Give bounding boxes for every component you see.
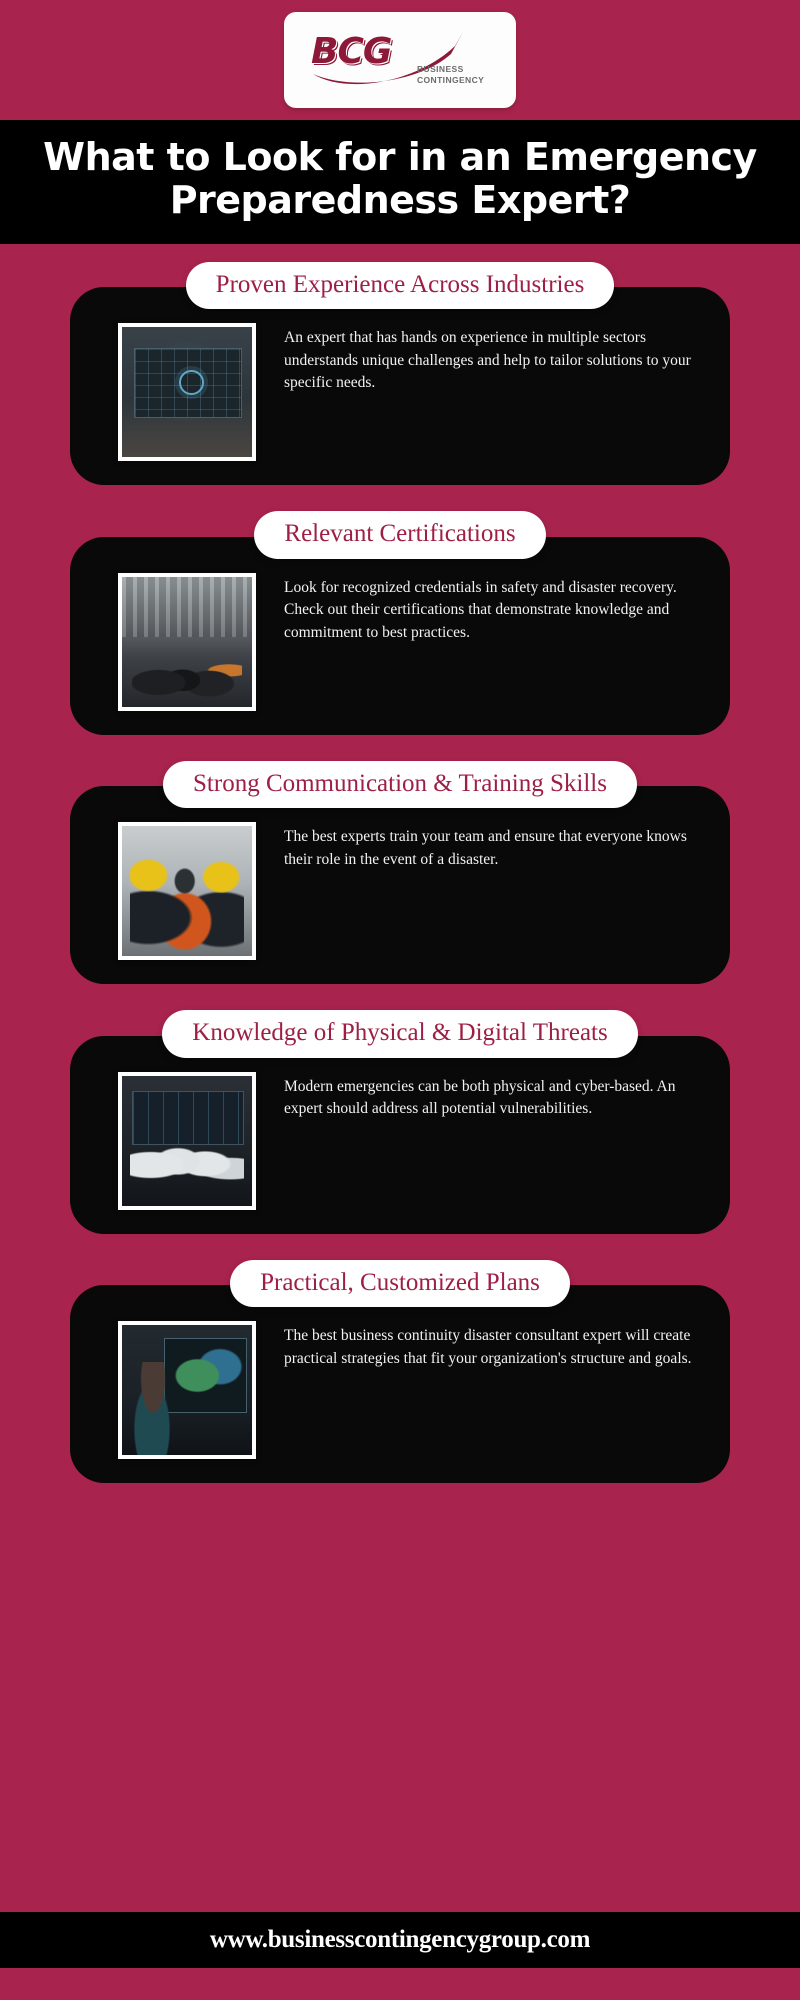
card-thumbnail-frame xyxy=(118,822,256,960)
card-heading: Practical, Customized Plans xyxy=(260,1269,540,1297)
card-heading-pill: Strong Communication & Training Skills xyxy=(163,761,637,809)
card-thumbnail-frame xyxy=(118,323,256,461)
infographic-page: BCG BUSINESS CONTINGENCY What to Look fo… xyxy=(0,0,800,2000)
card-body: The best experts train your team and ens… xyxy=(70,786,730,984)
card-thumbnail-frame xyxy=(118,1072,256,1210)
card-heading-pill: Proven Experience Across Industries xyxy=(186,262,615,310)
header-band: BCG BUSINESS CONTINGENCY xyxy=(0,0,800,120)
card-heading-pill: Knowledge of Physical & Digital Threats xyxy=(162,1010,637,1058)
cards-container: Proven Experience Across Industries An e… xyxy=(0,244,800,1898)
card-communication-training: Strong Communication & Training Skills T… xyxy=(70,761,730,985)
card-body: An expert that has hands on experience i… xyxy=(70,287,730,485)
card-body: Look for recognized credentials in safet… xyxy=(70,537,730,735)
card-relevant-certifications: Relevant Certifications Look for recogni… xyxy=(70,511,730,735)
card-description: Look for recognized credentials in safet… xyxy=(284,573,696,644)
card-description: An expert that has hands on experience i… xyxy=(284,323,696,394)
card-physical-digital-threats: Knowledge of Physical & Digital Threats … xyxy=(70,1010,730,1234)
page-title: What to Look for in an Emergency Prepare… xyxy=(40,136,760,222)
brand-logo: BCG BUSINESS CONTINGENCY xyxy=(284,12,516,108)
website-url[interactable]: www.businesscontingencygroup.com xyxy=(210,1926,590,1954)
card-description: The best business continuity disaster co… xyxy=(284,1321,696,1370)
card-heading: Proven Experience Across Industries xyxy=(216,271,585,299)
card-heading-pill: Relevant Certifications xyxy=(254,511,545,559)
footer-band: www.businesscontingencygroup.com xyxy=(0,1912,800,1968)
team-meeting-in-control-room-photo xyxy=(122,1076,252,1206)
footer-spacer xyxy=(0,1898,800,1912)
consultant-presenting-weather-map-photo xyxy=(122,1325,252,1455)
card-body: The best business continuity disaster co… xyxy=(70,1285,730,1483)
logo-wordmark: BCG xyxy=(311,34,391,70)
logo-inner: BCG BUSINESS CONTINGENCY xyxy=(305,24,495,96)
card-proven-experience: Proven Experience Across Industries An e… xyxy=(70,262,730,486)
security-operations-command-center-photo xyxy=(122,327,252,457)
card-thumbnail-frame xyxy=(118,1321,256,1459)
card-heading: Strong Communication & Training Skills xyxy=(193,770,607,798)
title-band: What to Look for in an Emergency Prepare… xyxy=(0,120,800,244)
emergency-responders-training-briefing-photo xyxy=(122,826,252,956)
card-practical-customized-plans: Practical, Customized Plans The best bus… xyxy=(70,1260,730,1484)
card-body: Modern emergencies can be both physical … xyxy=(70,1036,730,1234)
card-heading: Knowledge of Physical & Digital Threats xyxy=(192,1019,607,1047)
logo-tagline: BUSINESS CONTINGENCY xyxy=(417,64,484,87)
logo-tagline-line1: BUSINESS xyxy=(417,64,484,75)
card-description: Modern emergencies can be both physical … xyxy=(284,1072,696,1121)
logo-tagline-line2: CONTINGENCY xyxy=(417,75,484,86)
footer-bottom-strip xyxy=(0,1968,800,2000)
firefighters-on-city-street-photo xyxy=(122,577,252,707)
card-heading: Relevant Certifications xyxy=(284,520,515,548)
card-heading-pill: Practical, Customized Plans xyxy=(230,1260,570,1308)
card-thumbnail-frame xyxy=(118,573,256,711)
card-description: The best experts train your team and ens… xyxy=(284,822,696,871)
